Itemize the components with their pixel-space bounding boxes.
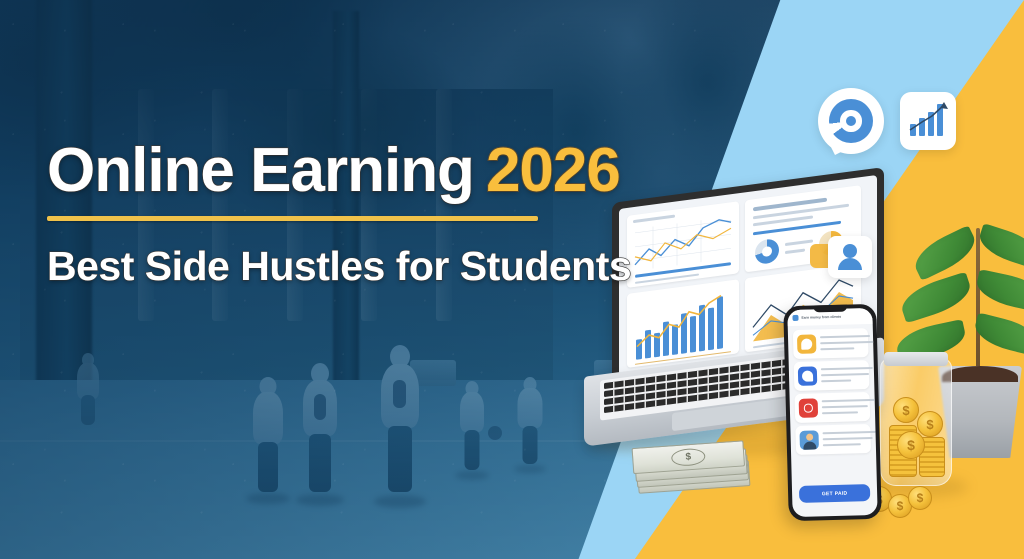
target-bubble: [818, 88, 884, 154]
photo-app-icon: [799, 398, 818, 417]
messenger-app-icon: [798, 366, 817, 385]
user-body-icon: [838, 258, 862, 270]
savings-jar: $ $ $: [880, 358, 952, 486]
growth-arrow-icon: [900, 92, 956, 150]
app-logo-icon: [792, 315, 798, 321]
list-item[interactable]: [795, 424, 871, 455]
smartphone: Earn money from clients: [783, 304, 882, 521]
phone-screen: Earn money from clients: [787, 308, 877, 517]
line-chart-card: [627, 201, 739, 288]
subtitle: Best Side Hustles for Students: [47, 243, 631, 290]
target-donut-icon: [829, 99, 873, 143]
list-item[interactable]: [793, 328, 869, 359]
plant-leaf: [974, 269, 1024, 313]
gold-coin: $: [893, 397, 919, 423]
phone-notch: [813, 305, 847, 313]
growth-bubble: [900, 92, 956, 150]
gold-coin: $: [897, 431, 925, 459]
trend-line-svg: [627, 279, 739, 368]
plant-stem: [976, 228, 980, 374]
chat-app-icon: [797, 334, 816, 353]
plant-leaf: [897, 272, 975, 324]
phone-header-title: Earn money from clients: [801, 315, 841, 320]
pot-soil: [942, 366, 1018, 382]
headline-main: Online Earning: [47, 136, 474, 205]
user-profile-bubble: [828, 236, 872, 278]
gold-coin: $: [908, 486, 932, 510]
headline-year: 2026: [486, 136, 620, 205]
list-item[interactable]: [794, 360, 870, 391]
list-item[interactable]: [795, 392, 871, 423]
plant-leaf: [975, 223, 1024, 269]
cash-stack: $: [632, 440, 753, 494]
bar-chart-card: [627, 279, 739, 368]
dollar-symbol: $: [671, 448, 706, 467]
user-profile-icon: [843, 244, 857, 258]
gold-coin: $: [917, 411, 943, 437]
online-earning-banner: $ $ $ $ $ $ $ Earn money from clients: [0, 0, 1024, 559]
get-paid-button[interactable]: GET PAID: [799, 484, 870, 503]
donut-chart: [755, 238, 779, 265]
gold-divider: [47, 216, 538, 221]
profile-avatar-icon: [799, 430, 818, 449]
jar-lid: [884, 352, 948, 366]
page-title: Online Earning2026: [47, 140, 620, 202]
plant-leaf: [909, 225, 981, 281]
